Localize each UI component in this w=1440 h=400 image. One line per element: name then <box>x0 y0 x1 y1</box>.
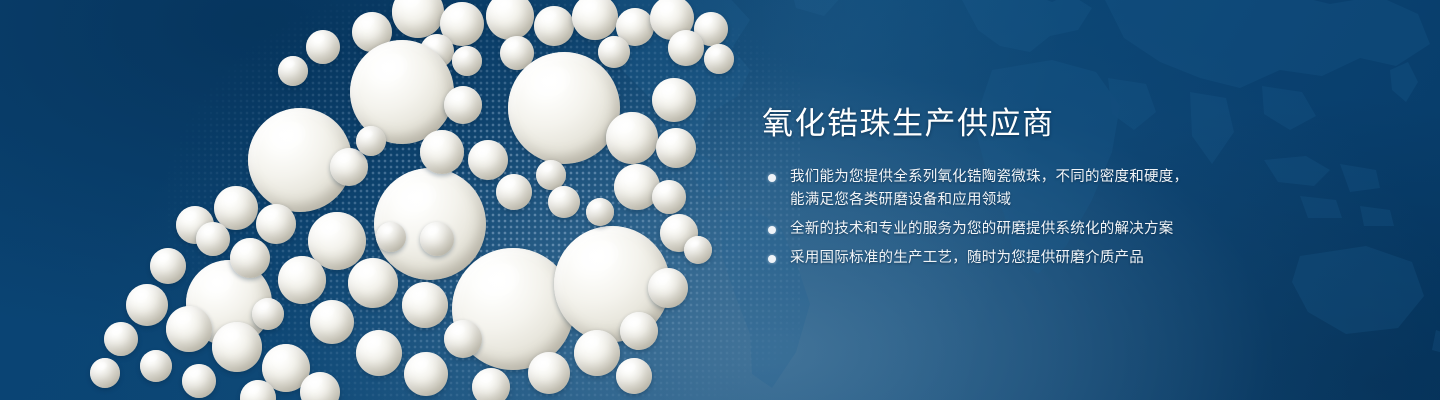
list-item: 采用国际标准的生产工艺，随时为您提供研磨介质产品 <box>762 247 1232 270</box>
feature-list: 我们能为您提供全系列氧化锆陶瓷微珠，不同的密度和硬度， 能满足您各类研磨设备和应… <box>762 166 1232 270</box>
list-item-line: 全新的技术和专业的服务为您的研磨提供系统化的解决方案 <box>790 218 1232 241</box>
banner-text-block: 氧化锆珠生产供应商 我们能为您提供全系列氧化锆陶瓷微珠，不同的密度和硬度， 能满… <box>762 104 1232 270</box>
circle-bullet-icon <box>768 226 776 234</box>
list-item-line: 我们能为您提供全系列氧化锆陶瓷微珠，不同的密度和硬度， <box>790 166 1232 189</box>
hero-banner: 氧化锆珠生产供应商 我们能为您提供全系列氧化锆陶瓷微珠，不同的密度和硬度， 能满… <box>0 0 1440 400</box>
list-item-line: 采用国际标准的生产工艺，随时为您提供研磨介质产品 <box>790 247 1232 270</box>
list-item-line: 能满足您各类研磨设备和应用领域 <box>790 189 1232 212</box>
page-title: 氧化锆珠生产供应商 <box>762 104 1232 144</box>
list-item: 全新的技术和专业的服务为您的研磨提供系统化的解决方案 <box>762 218 1232 241</box>
list-item: 我们能为您提供全系列氧化锆陶瓷微珠，不同的密度和硬度， 能满足您各类研磨设备和应… <box>762 166 1232 212</box>
circle-bullet-icon <box>768 255 776 263</box>
circle-bullet-icon <box>768 174 776 182</box>
